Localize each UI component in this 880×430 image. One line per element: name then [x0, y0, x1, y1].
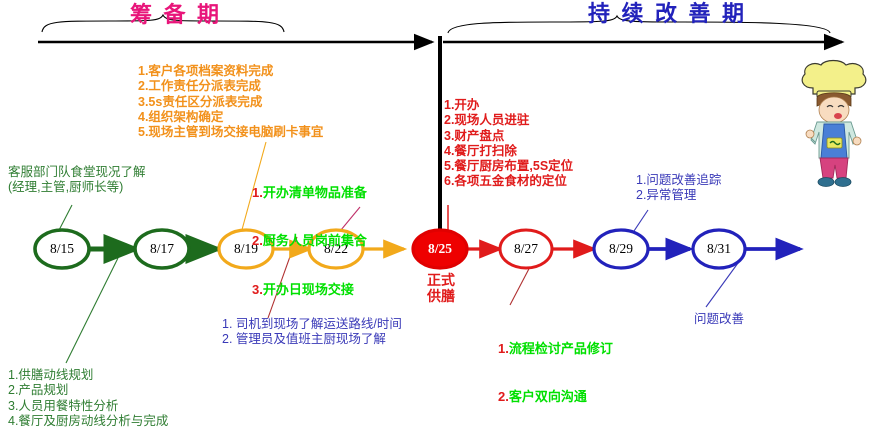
diagram-canvas: 筹 备 期 持 续 改 善 期 8/15 8/17 8/19 8/22 8/25…: [0, 0, 880, 430]
list-text: 厨务人员岗前集合: [263, 233, 367, 248]
prep-phase-axis: [38, 15, 432, 42]
review-item: 2.客户双向沟通: [498, 389, 613, 405]
list-number: 3.: [252, 282, 263, 297]
open-day-item: 2.厨务人员岗前集合: [252, 233, 367, 249]
phase-title-preparation: 筹 备 期: [130, 2, 222, 29]
node-label-8-17[interactable]: 8/17: [136, 241, 188, 257]
annotation-customer-service: 客服部门队食堂现况了解 (经理,主管,厨师长等): [8, 165, 146, 196]
node-label-8-25[interactable]: 8/25: [414, 241, 466, 257]
node-label-8-29[interactable]: 8/29: [595, 241, 647, 257]
annotation-plan-list: 1.供膳动线规划 2.产品规划 3.人员用餐特性分析 4.餐厅及厨房动线分析与完…: [8, 368, 168, 429]
annotation-improve-blue-list: 1.问题改善追踪 2.异常管理: [636, 173, 721, 204]
node-8-15: [35, 230, 89, 268]
list-number: 2.: [252, 233, 263, 248]
timeline-nodes: [35, 230, 745, 268]
open-day-item: 1.开办清单物品准备: [252, 185, 367, 201]
list-text: 流程检讨产品修订: [509, 341, 613, 356]
node-label-8-31[interactable]: 8/31: [693, 241, 745, 257]
chef-cartoon-icon: [795, 58, 875, 193]
node-8-17: [135, 230, 189, 268]
annotation-driver-notes: 1. 司机到现场了解运送路线/时间 2. 管理员及值班主厨现场了解: [222, 317, 402, 348]
annotation-prep-orange-list: 1.客户各项档案资料完成 2.工作责任分派表完成 3.5s责任区分派表完成 4.…: [138, 64, 323, 140]
list-number: 1.: [252, 185, 263, 200]
list-number: 1.: [498, 341, 509, 356]
list-text: 开办清单物品准备: [263, 185, 367, 200]
node-label-8-15[interactable]: 8/15: [36, 241, 88, 257]
list-number: 2.: [498, 389, 509, 404]
diagram-graphics: [0, 0, 880, 430]
node-8-27: [500, 230, 552, 268]
list-text: 开办日现场交接: [263, 282, 354, 297]
node-8-29: [594, 230, 648, 268]
annotation-open-red-list: 1.开办 2.现场人员进驻 3.财产盘点 4.餐厅打扫除 5.餐厅厨房布置,5S…: [444, 98, 573, 190]
node-sublabel-8-25: 正式 供膳: [406, 272, 476, 304]
list-text: 客户双向沟通: [509, 389, 587, 404]
node-label-8-27[interactable]: 8/27: [500, 241, 552, 257]
review-item: 1.流程检讨产品修订: [498, 341, 613, 357]
open-day-item: 3.开办日现场交接: [252, 282, 367, 298]
phase-title-improvement: 持 续 改 善 期: [588, 1, 747, 28]
annotation-problem-improve: 问题改善: [694, 312, 744, 327]
annotation-review-green-list: 1.流程检讨产品修订 2.客户双向沟通: [498, 308, 613, 430]
node-8-25: [413, 230, 467, 268]
annotation-open-day-list: 1.开办清单物品准备 2.厨务人员岗前集合 3.开办日现场交接: [252, 152, 367, 331]
node-8-31: [693, 230, 745, 268]
